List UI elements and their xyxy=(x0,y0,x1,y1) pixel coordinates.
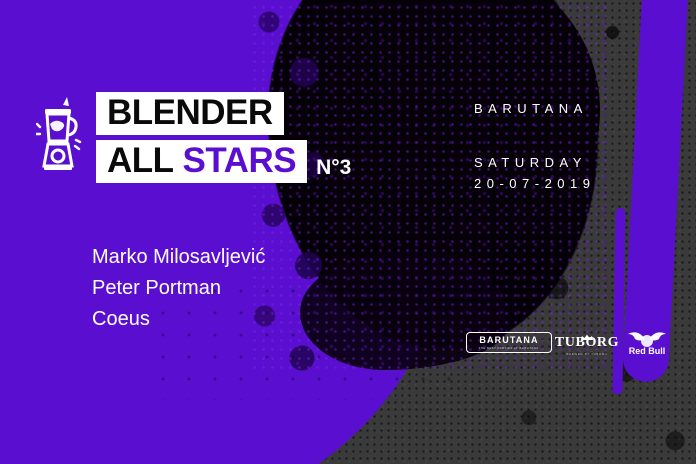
tuborg-logo-name: TUBORG xyxy=(555,336,619,350)
artist-lineup: Marko Milosavljević Peter Portman Coeus xyxy=(92,246,265,331)
red-bull-logo-icon: Red Bull xyxy=(622,328,672,356)
brand-lockup: BLENDER ALLSTARS N°3 xyxy=(36,92,351,183)
tuborg-logo-tagline: BREWED BY TUBORG xyxy=(566,352,607,356)
barutana-logo-tagline: THE BEST PARTIES AT BARUTANA xyxy=(479,347,539,350)
title-blender: BLENDER xyxy=(107,95,273,130)
artist-name: Coeus xyxy=(92,308,265,331)
barutana-logo-icon: BARUTANA THE BEST PARTIES AT BARUTANA xyxy=(466,332,552,353)
tuborg-logo-icon: TUBORG BREWED BY TUBORG xyxy=(557,328,617,356)
title-stack: BLENDER ALLSTARS N°3 xyxy=(96,92,351,183)
artist-name: Peter Portman xyxy=(92,277,265,300)
red-bull-bulls-icon xyxy=(625,328,669,348)
barutana-logo-name: BARUTANA xyxy=(479,336,538,345)
edition-number: N°3 xyxy=(316,156,351,180)
title-block-all-stars: ALLSTARS xyxy=(96,140,307,183)
title-row-secondary: ALLSTARS N°3 xyxy=(96,140,351,183)
event-poster: BLENDER ALLSTARS N°3 BARUTANA SATURDAY 2… xyxy=(0,0,696,464)
title-stars: STARS xyxy=(183,143,297,178)
event-day: SATURDAY xyxy=(474,155,596,170)
venue-name: BARUTANA xyxy=(474,101,596,116)
title-all: ALL xyxy=(107,143,174,178)
sponsor-bar: BARUTANA THE BEST PARTIES AT BARUTANA TU… xyxy=(466,322,672,362)
artist-name: Marko Milosavljević xyxy=(92,246,265,269)
tuborg-crown-icon xyxy=(580,328,594,335)
event-info: BARUTANA SATURDAY 20-07-2019 xyxy=(474,101,596,191)
title-row-primary: BLENDER xyxy=(96,92,351,135)
title-block-blender: BLENDER xyxy=(96,92,284,135)
event-date: 20-07-2019 xyxy=(474,176,596,191)
red-bull-logo-name: Red Bull xyxy=(629,347,666,356)
blender-appliance-icon xyxy=(36,94,82,176)
